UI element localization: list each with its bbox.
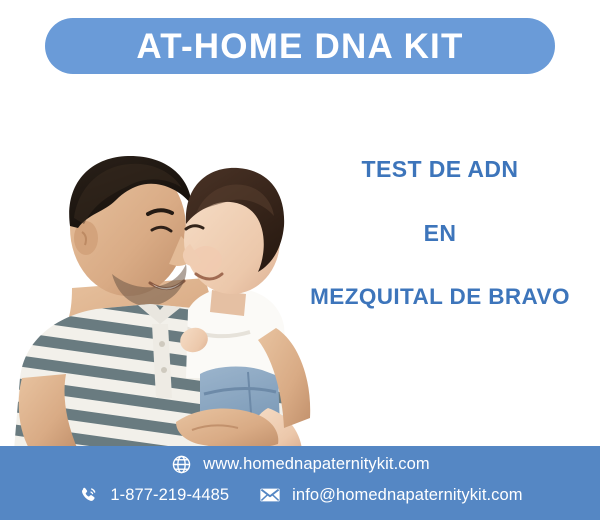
page-title: AT-HOME DNA KIT <box>136 29 463 64</box>
poster: AT-HOME DNA KIT <box>0 0 600 520</box>
phone-label: 1-877-219-4485 <box>110 487 229 504</box>
email-contact-item[interactable]: info@homednapaternitykit.com <box>259 484 523 506</box>
phone-contact-item[interactable]: 1-877-219-4485 <box>77 484 229 506</box>
envelope-icon <box>259 484 281 506</box>
father-and-child-photo <box>0 78 320 450</box>
father-and-child-photo-graphic <box>0 78 320 450</box>
header-banner: AT-HOME DNA KIT <box>45 18 555 74</box>
email-label: info@homednapaternitykit.com <box>292 487 523 504</box>
headline-line-2: EN <box>292 222 588 245</box>
website-contact-item[interactable]: www.homednapaternitykit.com <box>170 453 429 475</box>
headline-line-3: MEZQUITAL DE BRAVO <box>292 286 588 309</box>
globe-icon <box>170 453 192 475</box>
footer-contact-bar: www.homednapaternitykit.com 1-877-219-44… <box>0 446 600 520</box>
headline-line-1: TEST DE ADN <box>292 158 588 181</box>
phone-icon <box>77 484 99 506</box>
website-label: www.homednapaternitykit.com <box>203 456 429 473</box>
footer-row-phone-email: 1-877-219-4485 info@homednapaternitykit.… <box>0 484 600 506</box>
headline-block: TEST DE ADN EN MEZQUITAL DE BRAVO <box>292 158 588 309</box>
footer-row-website: www.homednapaternitykit.com <box>0 453 600 475</box>
